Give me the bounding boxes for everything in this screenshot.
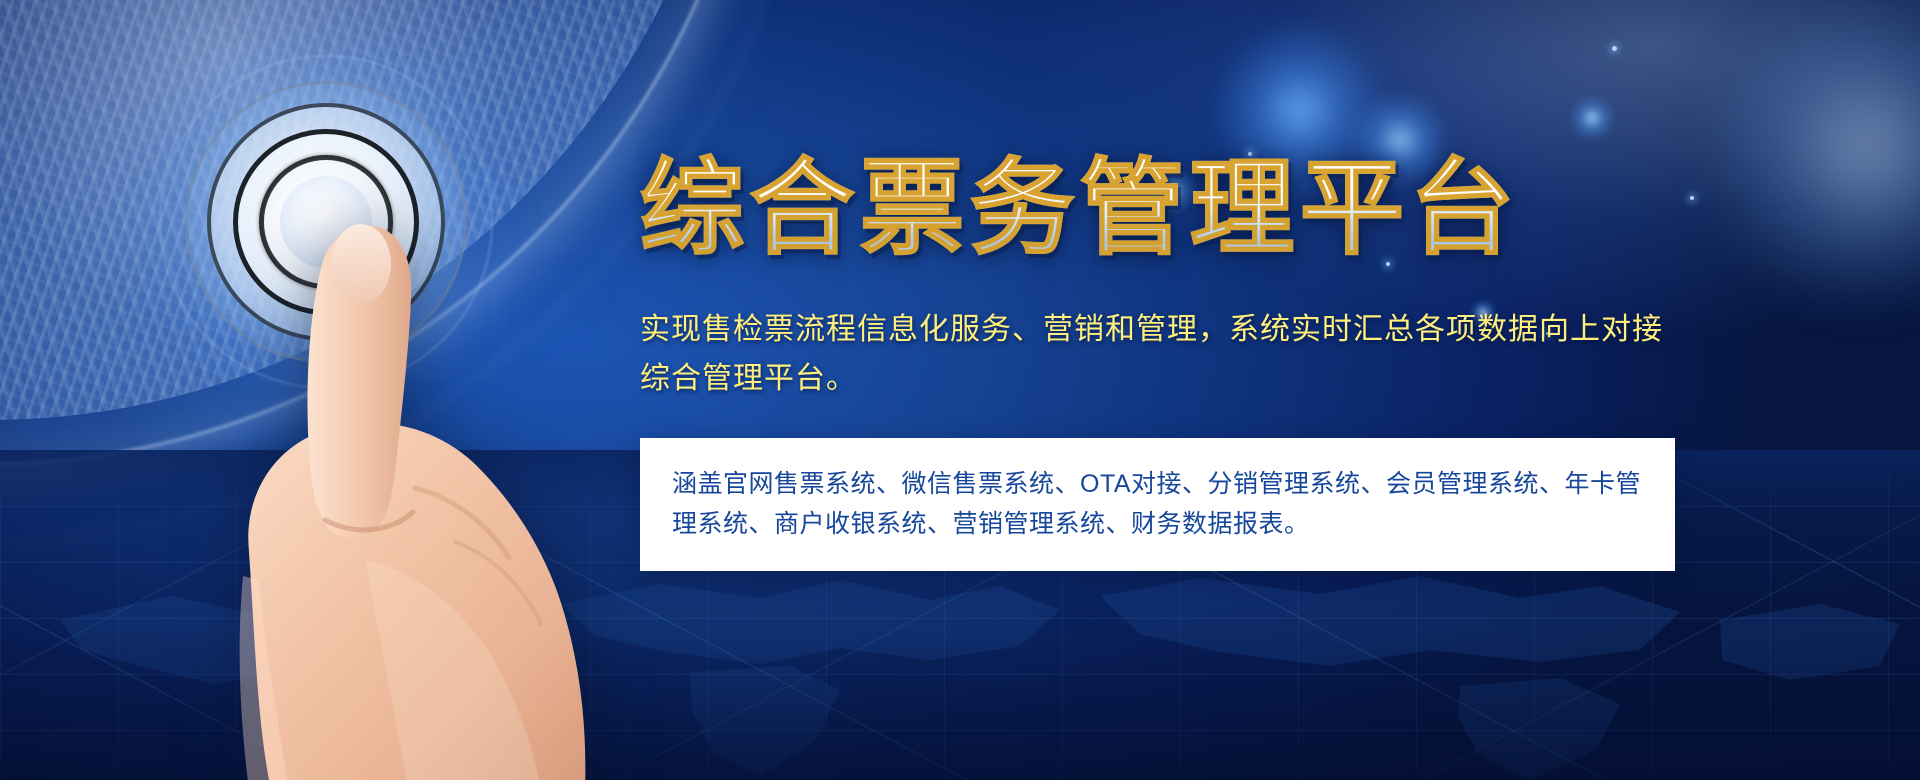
pointing-hand-icon (205, 220, 625, 780)
banner-content: 综合票务管理平台 实现售检票流程信息化服务、营销和管理，系统实时汇总各项数据向上… (640, 150, 1700, 571)
banner-subtitle: 实现售检票流程信息化服务、营销和管理，系统实时汇总各项数据向上对接综合管理平台。 (640, 306, 1680, 403)
hero-banner: 综合票务管理平台 实现售检票流程信息化服务、营销和管理，系统实时汇总各项数据向上… (0, 0, 1920, 780)
feature-callout-text: 涵盖官网售票系统、微信售票系统、OTA对接、分销管理系统、会员管理系统、年卡管理… (672, 464, 1645, 545)
page-title: 综合票务管理平台 (640, 150, 1700, 266)
feature-callout-box: 涵盖官网售票系统、微信售票系统、OTA对接、分销管理系统、会员管理系统、年卡管理… (640, 438, 1675, 571)
